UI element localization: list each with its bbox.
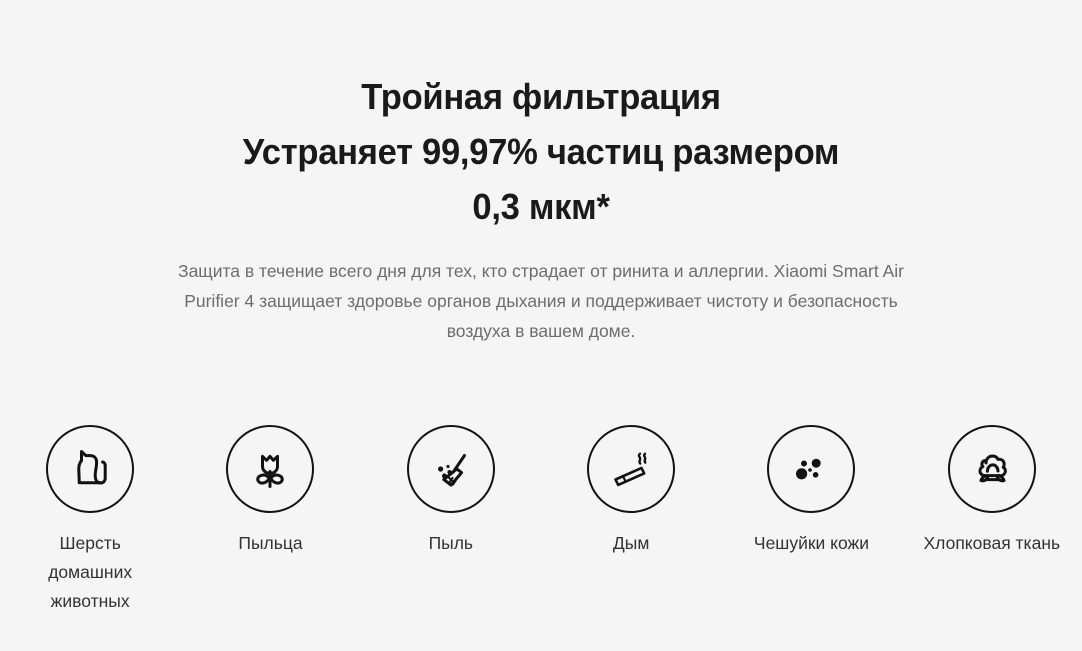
- feature-item-cotton-fabric: Хлопковая ткань: [902, 425, 1082, 558]
- feature-label: Пыльца: [180, 529, 360, 558]
- feature-icon-row: Шерсть домашних животных Пыльца: [0, 425, 1082, 616]
- feature-label: Чешуйки кожи: [716, 529, 906, 558]
- feature-label: Хлопковая ткань: [897, 529, 1082, 558]
- feature-label: Пыль: [361, 529, 541, 558]
- page-title-line-3: 0,3 мкм*: [22, 179, 1061, 234]
- tulip-icon: [226, 425, 314, 513]
- cigarette-smoke-icon: [587, 425, 675, 513]
- page-title-line-1: Тройная фильтрация: [22, 69, 1061, 124]
- page-title: Тройная фильтрация Устраняет 99,97% част…: [22, 69, 1061, 234]
- feature-label: Шерсть домашних животных: [0, 529, 180, 616]
- skin-flakes-icon: [767, 425, 855, 513]
- broom-dust-icon: [407, 425, 495, 513]
- feature-item-skin-flakes: Чешуйки кожи: [721, 425, 901, 558]
- cotton-boll-icon: [948, 425, 1036, 513]
- cat-icon: [46, 425, 134, 513]
- promo-page: Тройная фильтрация Устраняет 99,97% част…: [0, 0, 1082, 651]
- feature-item-smoke: Дым: [541, 425, 721, 558]
- feature-item-dust: Пыль: [361, 425, 541, 558]
- feature-item-pet-hair: Шерсть домашних животных: [0, 425, 180, 616]
- page-description: Защита в течение всего дня для тех, кто …: [176, 256, 906, 346]
- page-title-line-2: Устраняет 99,97% частиц размером: [22, 124, 1061, 179]
- feature-label: Дым: [541, 529, 721, 558]
- feature-item-pollen: Пыльца: [180, 425, 360, 558]
